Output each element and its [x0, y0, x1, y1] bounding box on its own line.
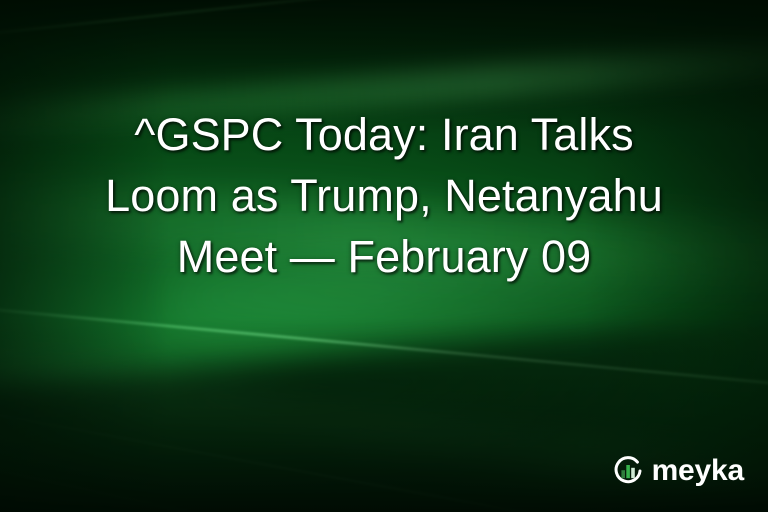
headline: ^GSPC Today: Iran Talks Loom as Trump, N… [0, 104, 768, 287]
circular-bar-chart-icon [611, 454, 645, 488]
news-card: ^GSPC Today: Iran Talks Loom as Trump, N… [0, 0, 768, 512]
brand-logo[interactable]: meyka [611, 454, 744, 488]
headline-line-3: Meet — February 09 [44, 226, 724, 287]
headline-line-1: ^GSPC Today: Iran Talks [44, 104, 724, 165]
headline-line-2: Loom as Trump, Netanyahu [44, 165, 724, 226]
brand-name: meyka [652, 456, 744, 486]
